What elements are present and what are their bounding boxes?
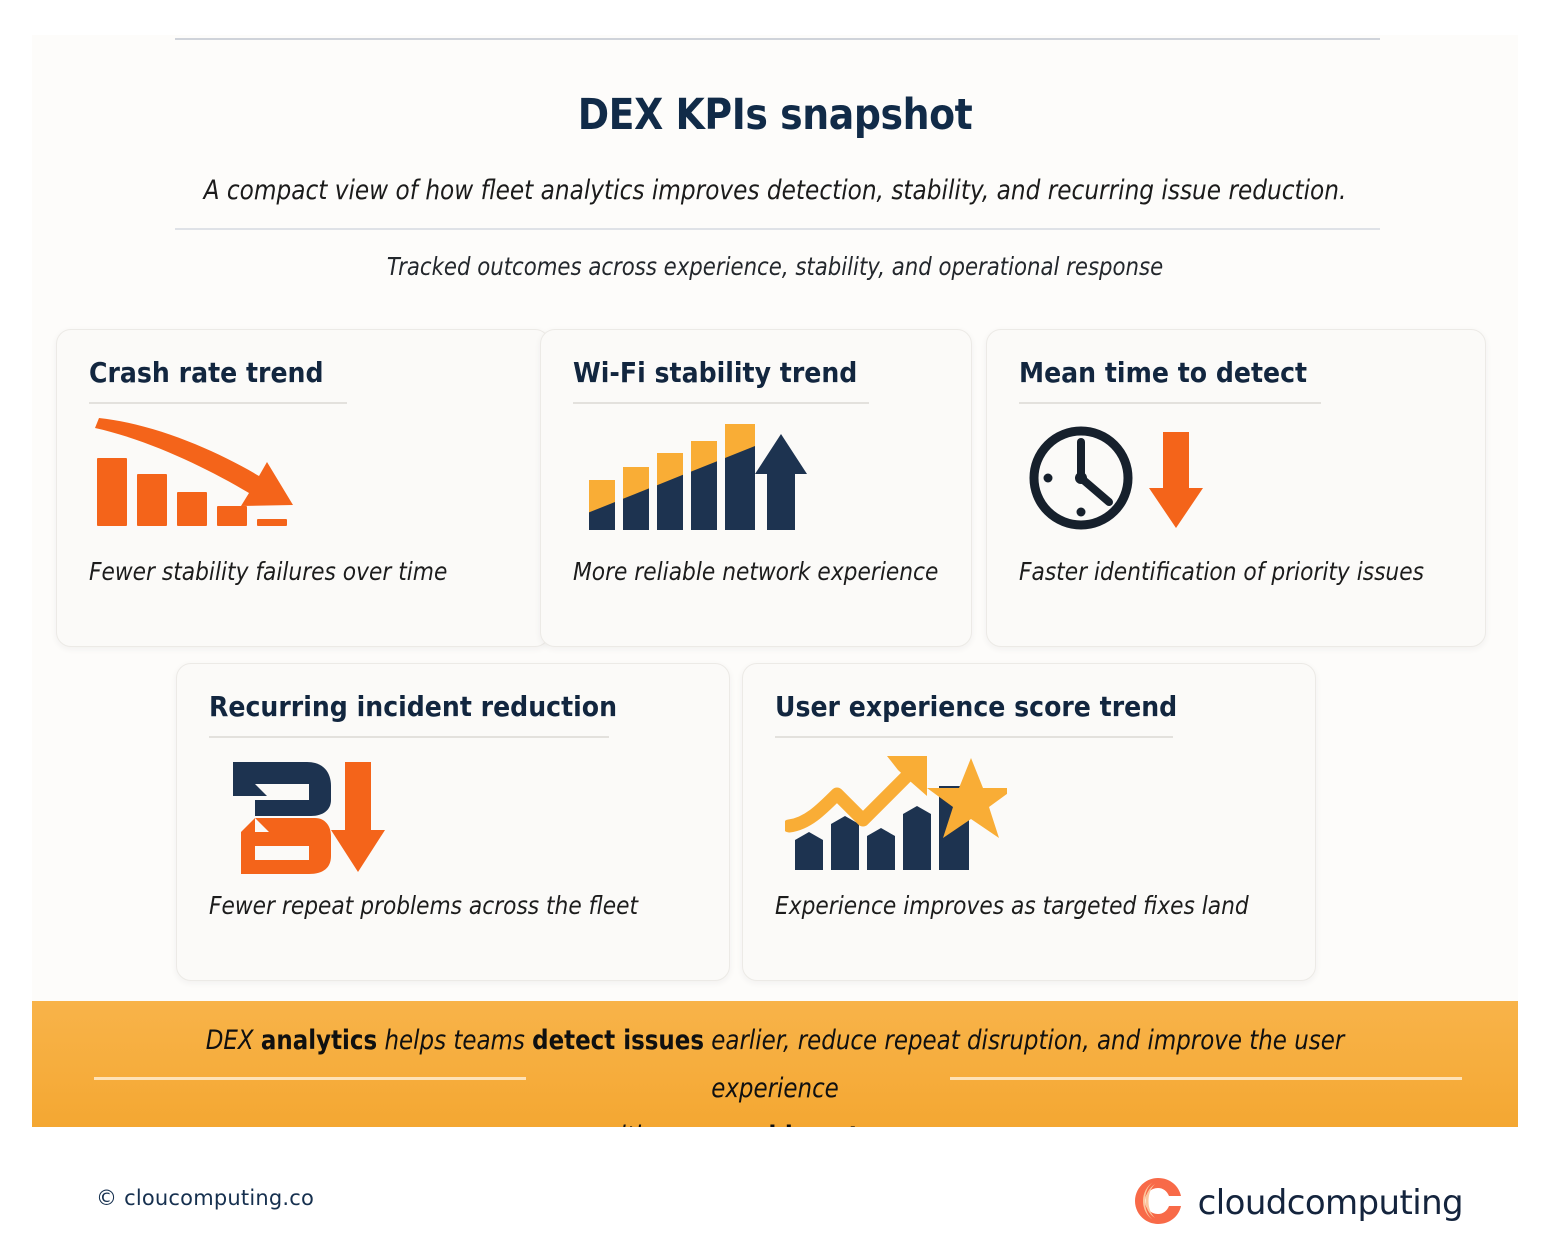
infographic-panel: DEX KPIs snapshot A compact view of how … bbox=[32, 35, 1518, 1127]
rising-bar-chart-up-arrow-icon bbox=[585, 422, 807, 538]
header-bottom-divider bbox=[175, 228, 1380, 230]
banner-italic-disruption: disruption bbox=[967, 1025, 1082, 1056]
card-title-underline bbox=[209, 736, 609, 738]
rising-chart-star-icon bbox=[785, 754, 1007, 884]
banner-rule-right bbox=[950, 1077, 1462, 1080]
card-title-underline bbox=[89, 402, 347, 404]
card-caption: More reliable network experience bbox=[573, 557, 938, 586]
brand-logo: cloudcomputing bbox=[1132, 1175, 1463, 1231]
kpi-card-crash-rate-trend: Crash rate trend Fewer stability failure… bbox=[56, 329, 550, 647]
summary-banner: DEX analytics helps teams detect issues … bbox=[32, 1001, 1518, 1127]
card-title-underline bbox=[573, 402, 869, 404]
banner-text: . bbox=[942, 1121, 949, 1127]
card-title-underline bbox=[1019, 402, 1321, 404]
card-caption: Faster identification of priority issues bbox=[1019, 557, 1424, 586]
banner-line-2: with measurable outcomes. bbox=[143, 1113, 1406, 1127]
card-caption: Experience improves as targeted fixes la… bbox=[775, 891, 1249, 920]
banner-text: earlier, reduce repeat bbox=[704, 1025, 967, 1056]
page-subtitle: A compact view of how fleet analytics im… bbox=[136, 175, 1414, 206]
logo-wordmark: cloudcomputing bbox=[1198, 1183, 1463, 1223]
banner-text: DEX bbox=[206, 1025, 261, 1056]
header-top-divider bbox=[175, 38, 1380, 40]
recycle-loop-down-arrow-icon bbox=[219, 756, 399, 882]
kpi-card-user-experience-score-trend: User experience score trend Experience i bbox=[742, 663, 1316, 981]
clock-down-arrow-icon bbox=[1029, 422, 1219, 542]
banner-line-1: DEX analytics helps teams detect issues … bbox=[143, 1017, 1406, 1113]
card-title: Mean time to detect bbox=[1019, 356, 1307, 389]
banner-bold-analytics: analytics bbox=[261, 1025, 377, 1056]
kpi-card-wifi-stability-trend: Wi-Fi stability trend bbox=[540, 329, 972, 647]
card-title: Crash rate trend bbox=[89, 356, 324, 389]
banner-text: helps teams bbox=[377, 1025, 532, 1056]
declining-bar-chart-icon bbox=[89, 418, 301, 548]
kpi-card-recurring-incident-reduction: Recurring incident reduction Fewer repea… bbox=[176, 663, 730, 981]
copyright-text: © cloucomputing.co bbox=[96, 1186, 314, 1210]
card-caption: Fewer stability failures over time bbox=[89, 557, 447, 586]
banner-text: with bbox=[601, 1121, 657, 1127]
card-title: Wi-Fi stability trend bbox=[573, 356, 857, 389]
banner-bold-measurable-outcomes: measurable outcomes bbox=[657, 1121, 942, 1127]
banner-rule-left bbox=[94, 1077, 526, 1080]
card-title-underline bbox=[775, 736, 1173, 738]
kpi-card-mean-time-to-detect: Mean time to detect Faster identificatio… bbox=[986, 329, 1486, 647]
banner-bold-detect-issues: detect issues bbox=[532, 1025, 704, 1056]
card-title: Recurring incident reduction bbox=[209, 690, 617, 723]
card-caption: Fewer repeat problems across the fleet bbox=[209, 891, 638, 920]
c-swoosh-logo-icon bbox=[1132, 1175, 1184, 1231]
page-tagline: Tracked outcomes across experience, stab… bbox=[143, 252, 1406, 281]
page-title: DEX KPIs snapshot bbox=[121, 90, 1429, 140]
card-title: User experience score trend bbox=[775, 690, 1177, 723]
